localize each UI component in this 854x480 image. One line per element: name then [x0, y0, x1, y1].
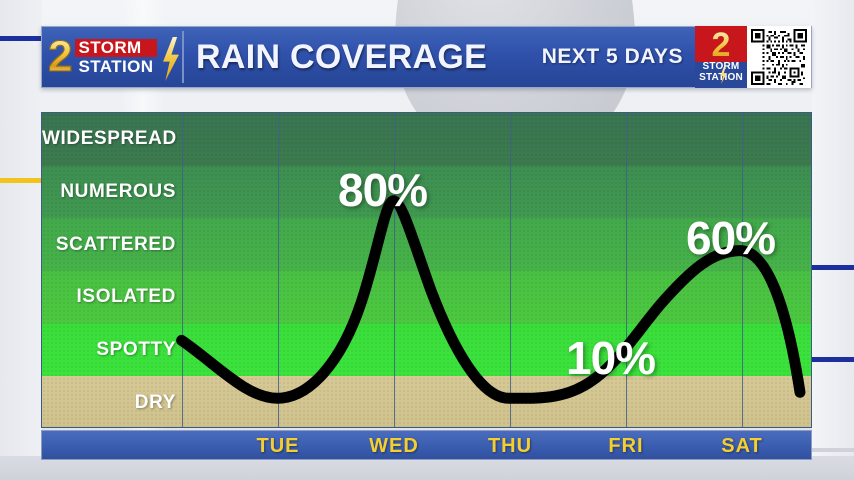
- data-label-wed-80: 80%: [338, 167, 427, 213]
- data-label-fri-10: 10%: [566, 335, 655, 381]
- background-panel-right: [812, 0, 854, 480]
- background-panel-left: [0, 0, 42, 480]
- x-axis-label-sat: SAT: [721, 435, 763, 458]
- y-axis-label-spotty: SPOTTY: [42, 339, 182, 361]
- x-axis-label-thu: THU: [488, 435, 532, 458]
- header-title-wrap: RAIN COVERAGE: [184, 27, 542, 87]
- coverage-band-dry: DRY: [42, 376, 811, 428]
- day-axis-bar: TUE WED THU FRI SAT: [41, 430, 812, 460]
- station-logo-station-text: STATION: [75, 57, 157, 76]
- coverage-band-widespread: WIDESPREAD: [42, 113, 811, 166]
- rain-coverage-chart: WIDESPREAD NUMEROUS SCATTERED ISOLATED S…: [41, 112, 812, 428]
- data-label-sat-60: 60%: [686, 215, 775, 261]
- station-logo-number: 2: [48, 35, 74, 79]
- lightning-bolt-icon: [160, 37, 182, 81]
- x-axis-label-wed: WED: [369, 435, 419, 458]
- corner-station-logo: 2 STORM STATION: [695, 26, 747, 88]
- coverage-band-spotty: SPOTTY: [42, 324, 811, 377]
- y-axis-label-numerous: NUMEROUS: [42, 181, 182, 203]
- date-range-label: NEXT 5 DAYS: [542, 45, 695, 69]
- accent-line-right-navy-upper: [812, 265, 854, 270]
- corner-logo-station-text: STATION: [699, 72, 743, 83]
- graphic-header-bar: 2 STORM STATION RAIN COVERAGE NEXT 5 DAY…: [41, 26, 812, 88]
- x-axis-label-fri: FRI: [608, 435, 643, 458]
- y-axis-label-isolated: ISOLATED: [42, 286, 182, 308]
- coverage-band-isolated: ISOLATED: [42, 271, 811, 324]
- station-logo: 2 STORM STATION: [42, 27, 182, 87]
- page-title: RAIN COVERAGE: [196, 38, 487, 77]
- station-logo-storm-text: STORM: [75, 39, 157, 57]
- accent-line-left-gold: [0, 178, 42, 183]
- x-axis-label-tue: TUE: [257, 435, 300, 458]
- y-axis-label-scattered: SCATTERED: [42, 234, 182, 256]
- corner-logo-number: 2: [712, 28, 731, 62]
- accent-line-right-navy-lower: [812, 357, 854, 362]
- y-axis-label-dry: DRY: [42, 392, 182, 414]
- corner-logo-storm-text: STORM: [703, 62, 740, 72]
- header-right-group: NEXT 5 DAYS 2 STORM STATION: [542, 27, 811, 87]
- station-logo-wordmark: STORM STATION: [75, 39, 157, 76]
- y-axis-label-widespread: WIDESPREAD: [42, 128, 182, 150]
- accent-line-left-navy: [0, 36, 42, 41]
- accent-line-right-grey: [812, 448, 854, 452]
- qr-code-icon[interactable]: [747, 26, 811, 88]
